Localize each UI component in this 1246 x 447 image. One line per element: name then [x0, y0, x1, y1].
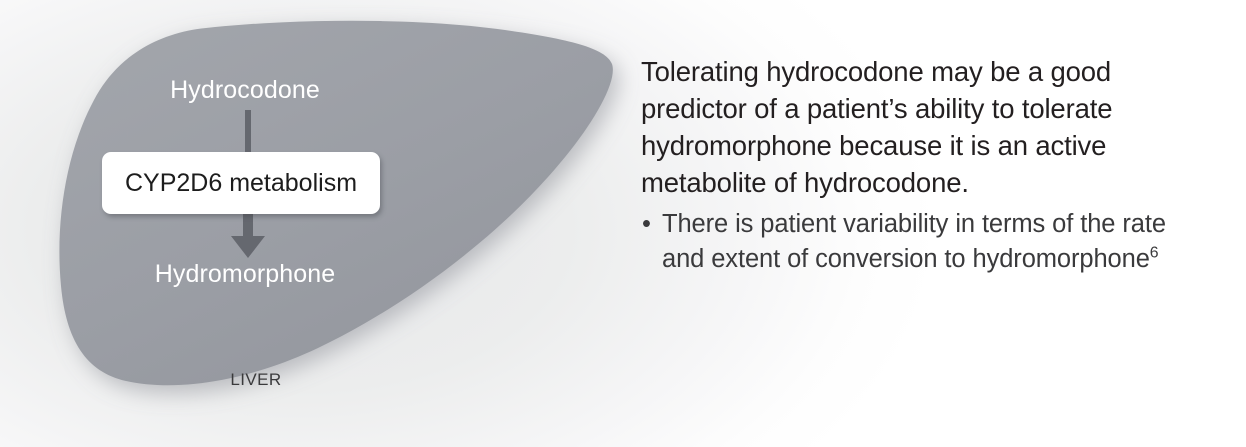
headline-text: Tolerating hydrocodone may be a good pre… [641, 53, 1211, 201]
node-label-hydrocodone: Hydrocodone [0, 78, 490, 103]
slide-canvas: Hydrocodone CYP2D6 metabolism Hydromorph… [0, 0, 1246, 447]
connector-line-top [245, 110, 251, 156]
cyp2d6-metabolism-box: CYP2D6 metabolism [102, 152, 380, 214]
bullet-dot-icon: • [642, 207, 651, 242]
bullet-list: •There is patient variability in terms o… [641, 207, 1211, 277]
list-item-text: There is patient variability in terms of… [662, 210, 1166, 273]
liver-metabolism-diagram: Hydrocodone CYP2D6 metabolism Hydromorph… [0, 0, 640, 447]
list-item: •There is patient variability in terms o… [641, 207, 1211, 277]
node-label-hydromorphone: Hydromorphone [0, 262, 490, 287]
reference-marker: 6 [1150, 245, 1159, 262]
explanatory-text-panel: Tolerating hydrocodone may be a good pre… [641, 53, 1211, 277]
cyp2d6-metabolism-label: CYP2D6 metabolism [125, 171, 357, 196]
liver-shape-graphic [0, 0, 640, 447]
liver-caption: LIVER [196, 371, 316, 388]
